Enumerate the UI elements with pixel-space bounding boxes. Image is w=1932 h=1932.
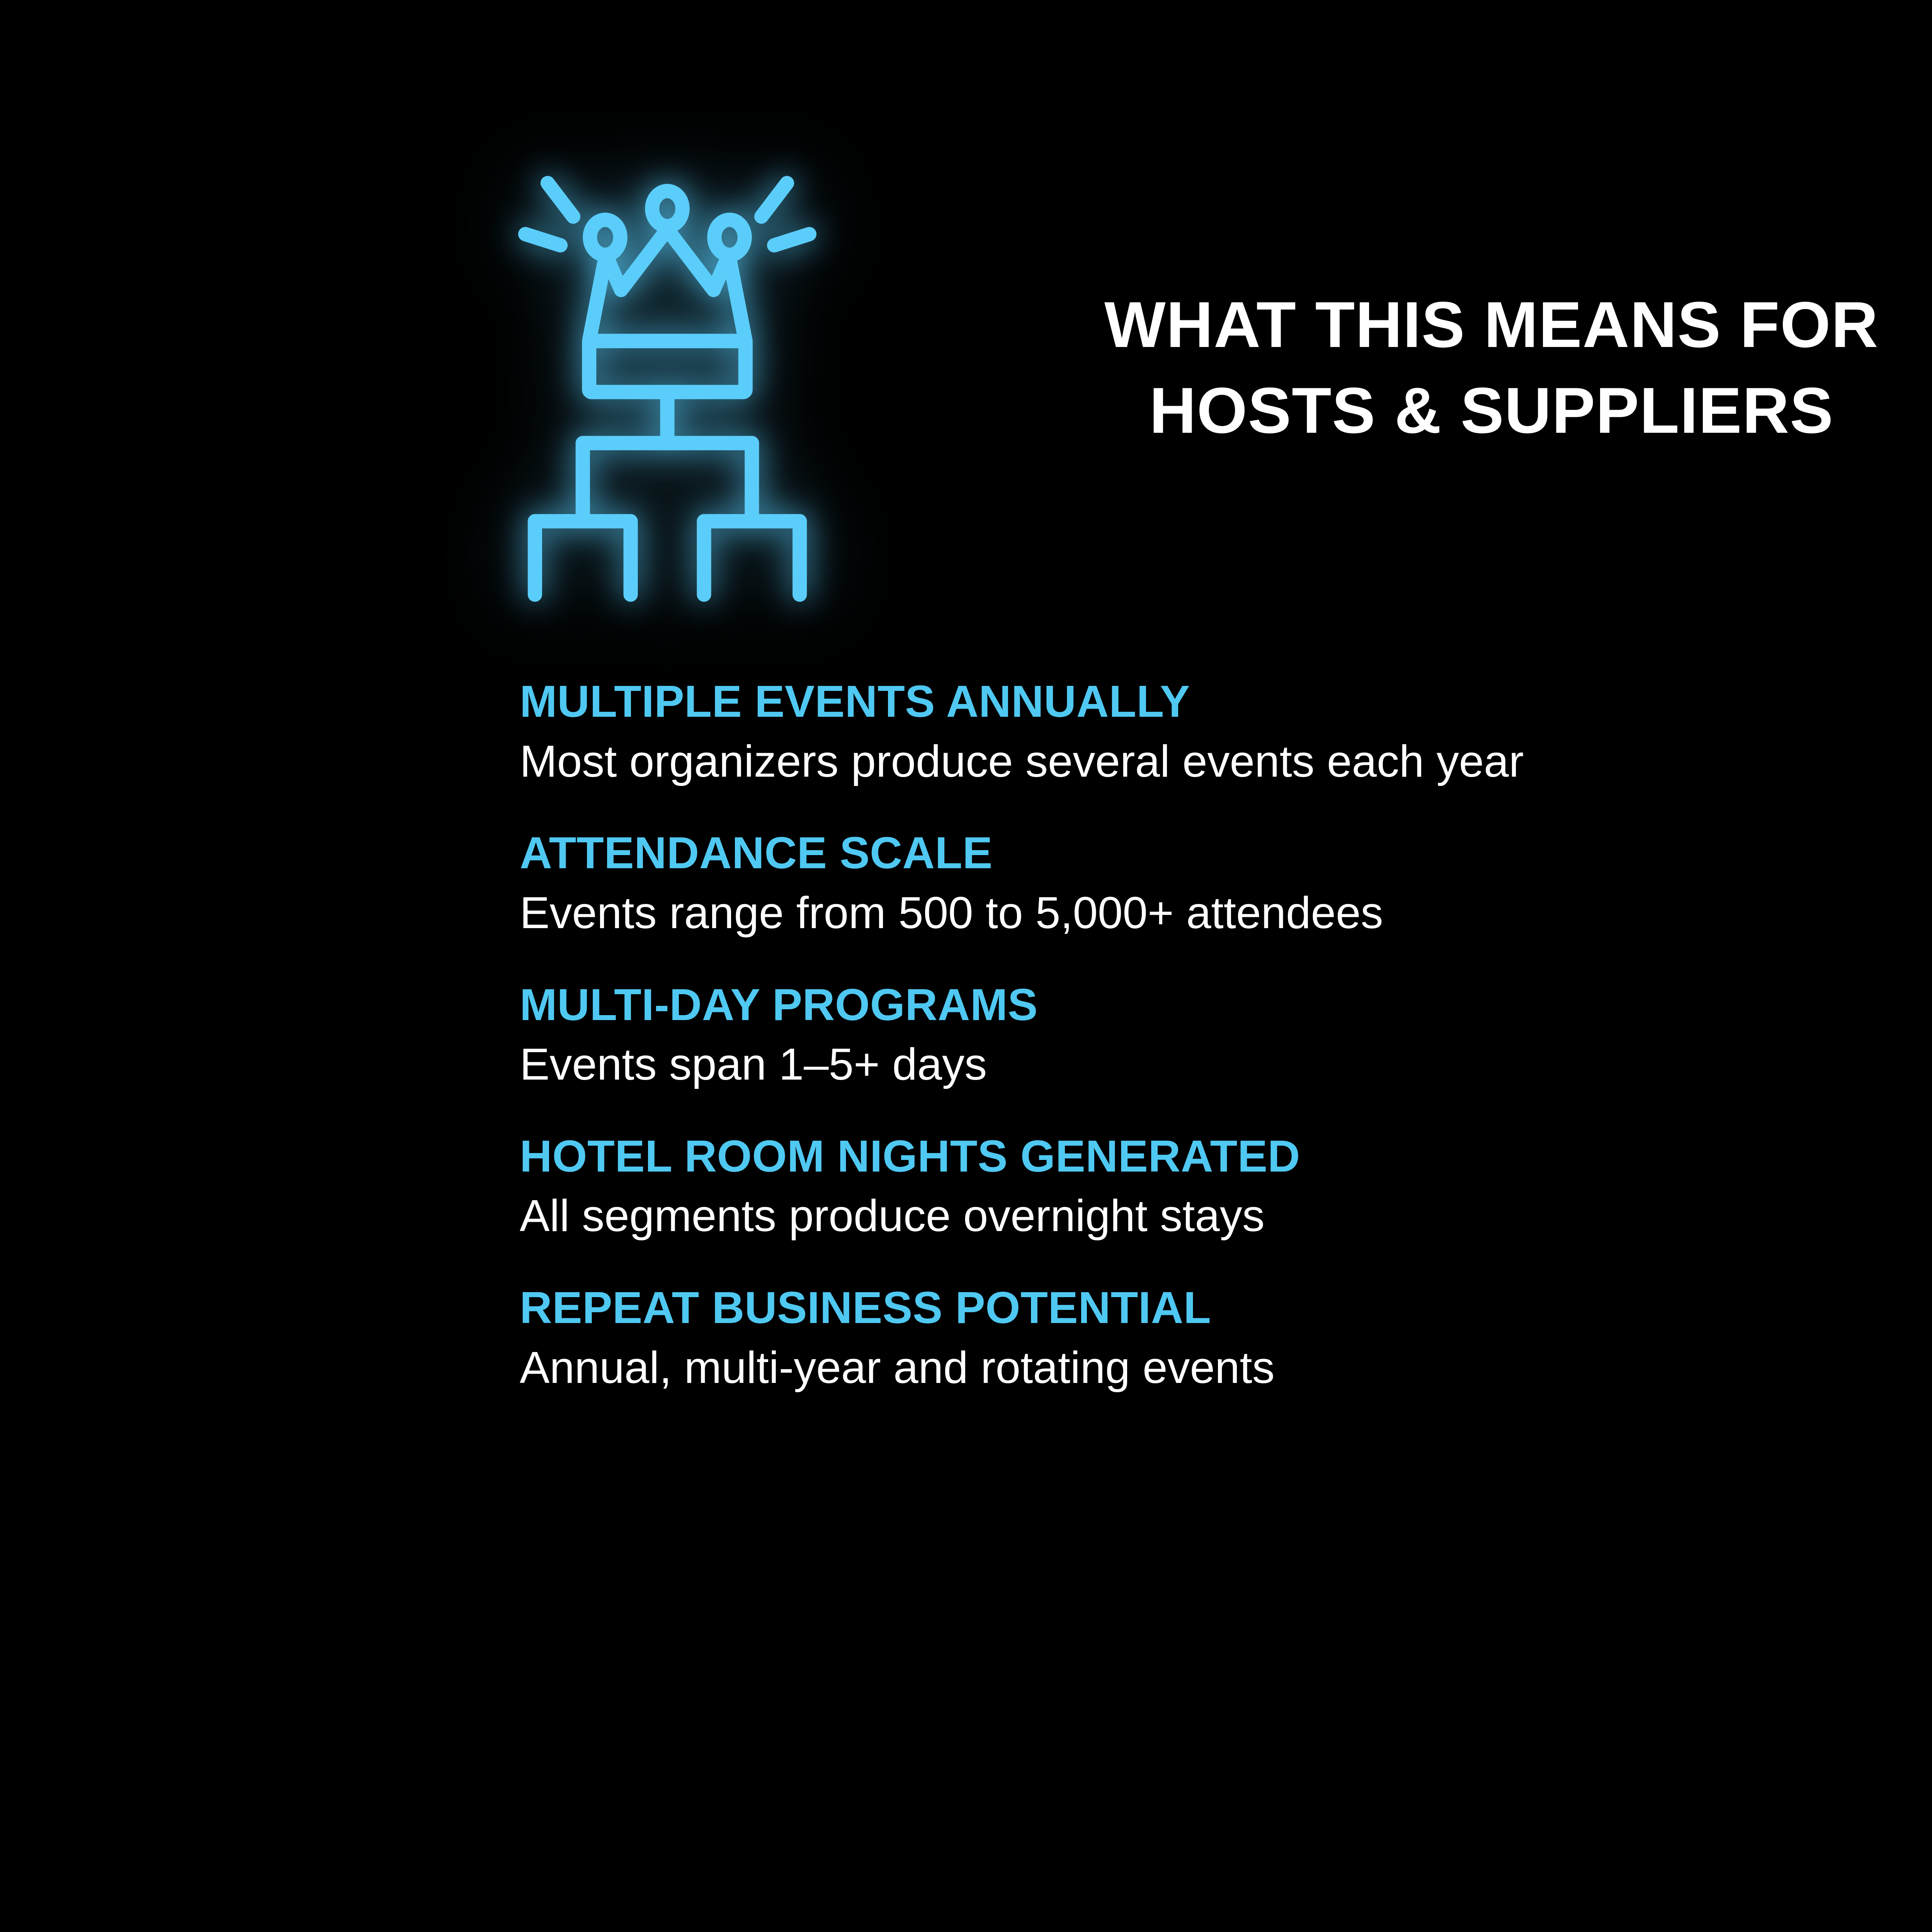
list-item-heading: ATTENDANCE SCALE — [520, 826, 1932, 881]
title-line-2: HOSTS & SUPPLIERS — [881, 368, 1932, 454]
list-item-heading: MULTI-DAY PROGRAMS — [520, 978, 1932, 1032]
list-item-heading: REPEAT BUSINESS POTENTIAL — [520, 1281, 1932, 1335]
list-item: MULTI-DAY PROGRAMS Events span 1–5+ days — [520, 978, 1932, 1094]
list-item: ATTENDANCE SCALE Events range from 500 t… — [520, 826, 1932, 942]
list-item-description: Events span 1–5+ days — [520, 1035, 1932, 1094]
slide-root: WHAT THIS MEANS FOR HOSTS & SUPPLIERS MU… — [0, 0, 1932, 1932]
page-title: WHAT THIS MEANS FOR HOSTS & SUPPLIERS — [881, 282, 1932, 454]
list-item: REPEAT BUSINESS POTENTIAL Annual, multi-… — [520, 1281, 1932, 1396]
list-item: MULTIPLE EVENTS ANNUALLY Most organizers… — [520, 674, 1932, 790]
list-item-heading: MULTIPLE EVENTS ANNUALLY — [520, 674, 1932, 729]
list-item: HOTEL ROOM NIGHTS GENERATED All segments… — [520, 1129, 1932, 1245]
benefits-list: MULTIPLE EVENTS ANNUALLY Most organizers… — [520, 674, 1932, 1397]
title-line-1: WHAT THIS MEANS FOR — [881, 282, 1932, 368]
list-item-description: Events range from 500 to 5,000+ attendee… — [520, 884, 1932, 942]
header-block: WHAT THIS MEANS FOR HOSTS & SUPPLIERS — [0, 166, 1932, 537]
list-item-description: Most organizers produce several events e… — [520, 732, 1932, 791]
list-item-description: Annual, multi-year and rotating events — [520, 1338, 1932, 1397]
list-item-description: All segments produce overnight stays — [520, 1187, 1932, 1245]
list-item-heading: HOTEL ROOM NIGHTS GENERATED — [520, 1129, 1932, 1184]
crown-hierarchy-icon — [509, 189, 842, 522]
